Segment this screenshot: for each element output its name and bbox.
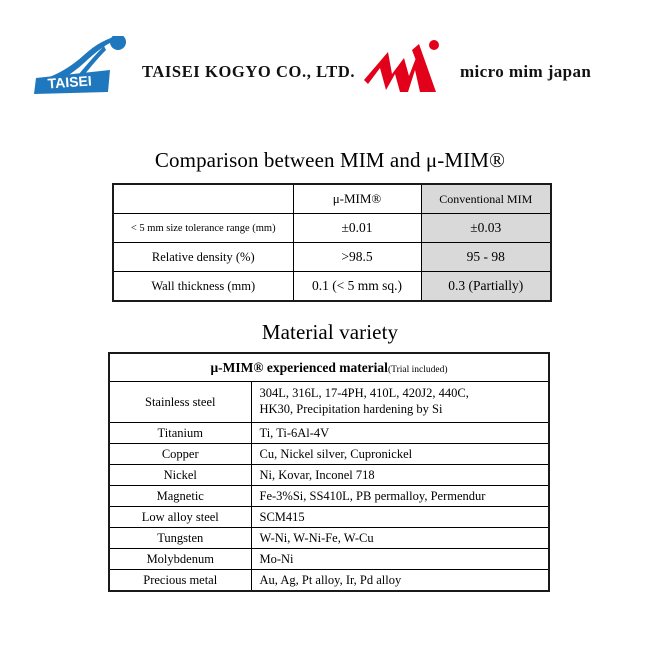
material-table: μ-MIM® experienced material(Trial includ… xyxy=(108,352,550,592)
material-name-8: Precious metal xyxy=(109,570,251,592)
material-name-4: Magnetic xyxy=(109,486,251,507)
material-values-2: Cu, Nickel silver, Cupronickel xyxy=(251,444,549,465)
comparison-section-title: Comparison between MIM and μ-MIM® xyxy=(0,148,660,173)
material-header-sub: (Trial included) xyxy=(388,365,448,375)
comparison-row-umim-2: 0.1 (< 5 mm sq.) xyxy=(293,272,421,302)
comparison-header-blank xyxy=(113,184,293,214)
table-row: Precious metal Au, Ag, Pt alloy, Ir, Pd … xyxy=(109,570,549,592)
material-name-2: Copper xyxy=(109,444,251,465)
comparison-row-label-2: Wall thickness (mm) xyxy=(113,272,293,302)
material-section-title: Material variety xyxy=(0,320,660,345)
material-name-1: Titanium xyxy=(109,423,251,444)
taisei-logo-icon: TAISEI xyxy=(34,36,132,96)
material-name-5: Low alloy steel xyxy=(109,507,251,528)
material-values-6: W-Ni, W-Ni-Fe, W-Cu xyxy=(251,528,549,549)
table-row: < 5 mm size tolerance range (mm) ±0.01 ±… xyxy=(113,214,551,243)
comparison-header-conventional: Conventional MIM xyxy=(421,184,551,214)
micro-mim-zigzag-icon xyxy=(362,40,458,96)
material-values-line: 304L, 316L, 17-4PH, 410L, 420J2, 440C, xyxy=(260,386,543,402)
material-values-line: HK30, Precipitation hardening by Si xyxy=(260,402,543,418)
material-values-8: Au, Ag, Pt alloy, Ir, Pd alloy xyxy=(251,570,549,592)
comparison-row-label-1: Relative density (%) xyxy=(113,243,293,272)
comparison-row-label-0: < 5 mm size tolerance range (mm) xyxy=(113,214,293,243)
taisei-logo: TAISEI TAISEI KOGYO CO., LTD. xyxy=(34,36,324,98)
material-values-4: Fe-3%Si, SS410L, PB permalloy, Permendur xyxy=(251,486,549,507)
comparison-row-umim-1: >98.5 xyxy=(293,243,421,272)
table-row: Tungsten W-Ni, W-Ni-Fe, W-Cu xyxy=(109,528,549,549)
page-root: TAISEI TAISEI KOGYO CO., LTD. micro mim … xyxy=(0,0,660,660)
table-row: Relative density (%) >98.5 95 - 98 xyxy=(113,243,551,272)
comparison-row-conventional-2: 0.3 (Partially) xyxy=(421,272,551,302)
comparison-row-conventional-1: 95 - 98 xyxy=(421,243,551,272)
table-row: Titanium Ti, Ti-6Al-4V xyxy=(109,423,549,444)
micro-mim-logo: micro mim japan xyxy=(362,40,632,102)
material-name-7: Molybdenum xyxy=(109,549,251,570)
material-name-3: Nickel xyxy=(109,465,251,486)
material-header-main: μ-MIM® experienced material xyxy=(211,360,388,375)
header: TAISEI TAISEI KOGYO CO., LTD. micro mim … xyxy=(0,0,660,120)
comparison-row-umim-0: ±0.01 xyxy=(293,214,421,243)
table-row: Low alloy steel SCM415 xyxy=(109,507,549,528)
comparison-header-umim: μ-MIM® xyxy=(293,184,421,214)
table-row: Molybdenum Mo-Ni xyxy=(109,549,549,570)
table-row: μ-MIM® experienced material(Trial includ… xyxy=(109,353,549,382)
material-values-0: 304L, 316L, 17-4PH, 410L, 420J2, 440C, H… xyxy=(251,382,549,423)
material-name-6: Tungsten xyxy=(109,528,251,549)
table-row: Magnetic Fe-3%Si, SS410L, PB permalloy, … xyxy=(109,486,549,507)
material-values-5: SCM415 xyxy=(251,507,549,528)
table-row: μ-MIM® Conventional MIM xyxy=(113,184,551,214)
material-values-1: Ti, Ti-6Al-4V xyxy=(251,423,549,444)
micro-mim-wordmark: micro mim japan xyxy=(460,62,591,82)
material-table-header: μ-MIM® experienced material(Trial includ… xyxy=(109,353,549,382)
table-row: Copper Cu, Nickel silver, Cupronickel xyxy=(109,444,549,465)
table-row: Wall thickness (mm) 0.1 (< 5 mm sq.) 0.3… xyxy=(113,272,551,302)
material-values-3: Ni, Kovar, Inconel 718 xyxy=(251,465,549,486)
table-row: Nickel Ni, Kovar, Inconel 718 xyxy=(109,465,549,486)
comparison-table: μ-MIM® Conventional MIM < 5 mm size tole… xyxy=(112,183,552,302)
table-row: Stainless steel 304L, 316L, 17-4PH, 410L… xyxy=(109,382,549,423)
material-values-7: Mo-Ni xyxy=(251,549,549,570)
material-name-0: Stainless steel xyxy=(109,382,251,423)
taisei-mark-label: TAISEI xyxy=(47,72,92,91)
comparison-row-conventional-0: ±0.03 xyxy=(421,214,551,243)
taisei-wordmark: TAISEI KOGYO CO., LTD. xyxy=(142,62,355,82)
